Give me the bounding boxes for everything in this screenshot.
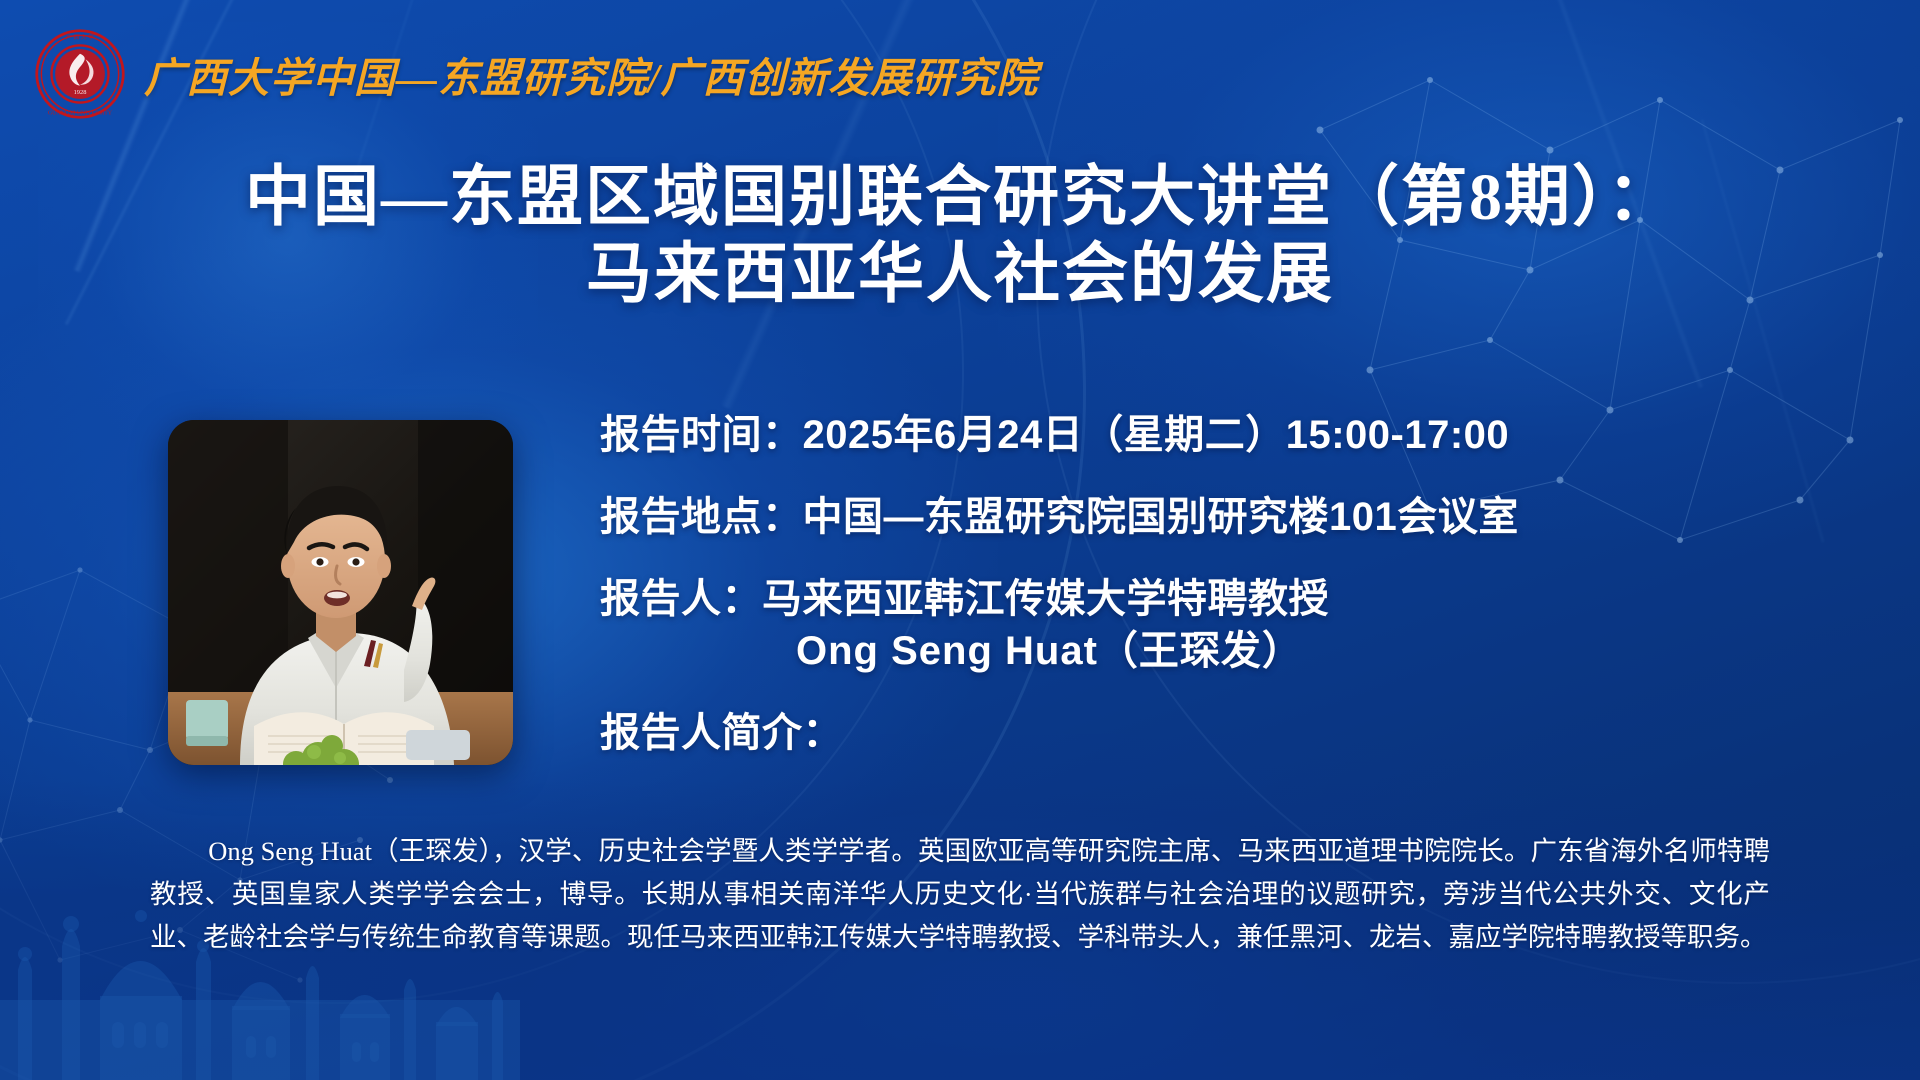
speaker-photo: [168, 420, 513, 765]
svg-text:GUANGXI UNIVERSITY: GUANGXI UNIVERSITY: [48, 110, 113, 116]
header-bar: 1928 广 西 大 学 GUANGXI UNIVERSITY 广西大学中国—东…: [34, 28, 1038, 120]
speaker-bio: Ong Seng Huat（王琛发），汉学、历史社会学暨人类学学者。英国欧亚高等…: [150, 830, 1770, 959]
organization-title: 广西大学中国—东盟研究院/广西创新发展研究院: [144, 44, 1038, 104]
event-info-block: 报告时间：2025年6月24日（星期二）15:00-17:00 报告地点：中国—…: [600, 415, 1720, 753]
event-time-line: 报告时间：2025年6月24日（星期二）15:00-17:00: [600, 415, 1720, 455]
svg-text:1928: 1928: [74, 89, 87, 96]
event-speaker-line: 报告人：马来西亚韩江传媒大学特聘教授: [600, 579, 1720, 619]
speaker-bio-text: Ong Seng Huat（王琛发），汉学、历史社会学暨人类学学者。英国欧亚高等…: [150, 830, 1770, 959]
poster-title-line-1: 中国—东盟区域国别联合研究大讲堂（第8期）：: [0, 160, 1920, 237]
event-speaker-name: Ong Seng Huat（王琛发）: [600, 631, 1720, 671]
bio-heading: 报告人简介：: [600, 713, 1720, 753]
poster-root: 1928 广 西 大 学 GUANGXI UNIVERSITY 广西大学中国—东…: [0, 0, 1920, 1080]
poster-title: 中国—东盟区域国别联合研究大讲堂（第8期）： 马来西亚华人社会的发展: [0, 160, 1920, 313]
svg-text:广 西 大 学: 广 西 大 学: [66, 33, 94, 41]
poster-title-line-2: 马来西亚华人社会的发展: [0, 237, 1920, 314]
event-place-line: 报告地点：中国—东盟研究院国别研究楼101会议室: [600, 497, 1720, 537]
university-seal-icon: 1928 广 西 大 学 GUANGXI UNIVERSITY: [34, 28, 126, 120]
